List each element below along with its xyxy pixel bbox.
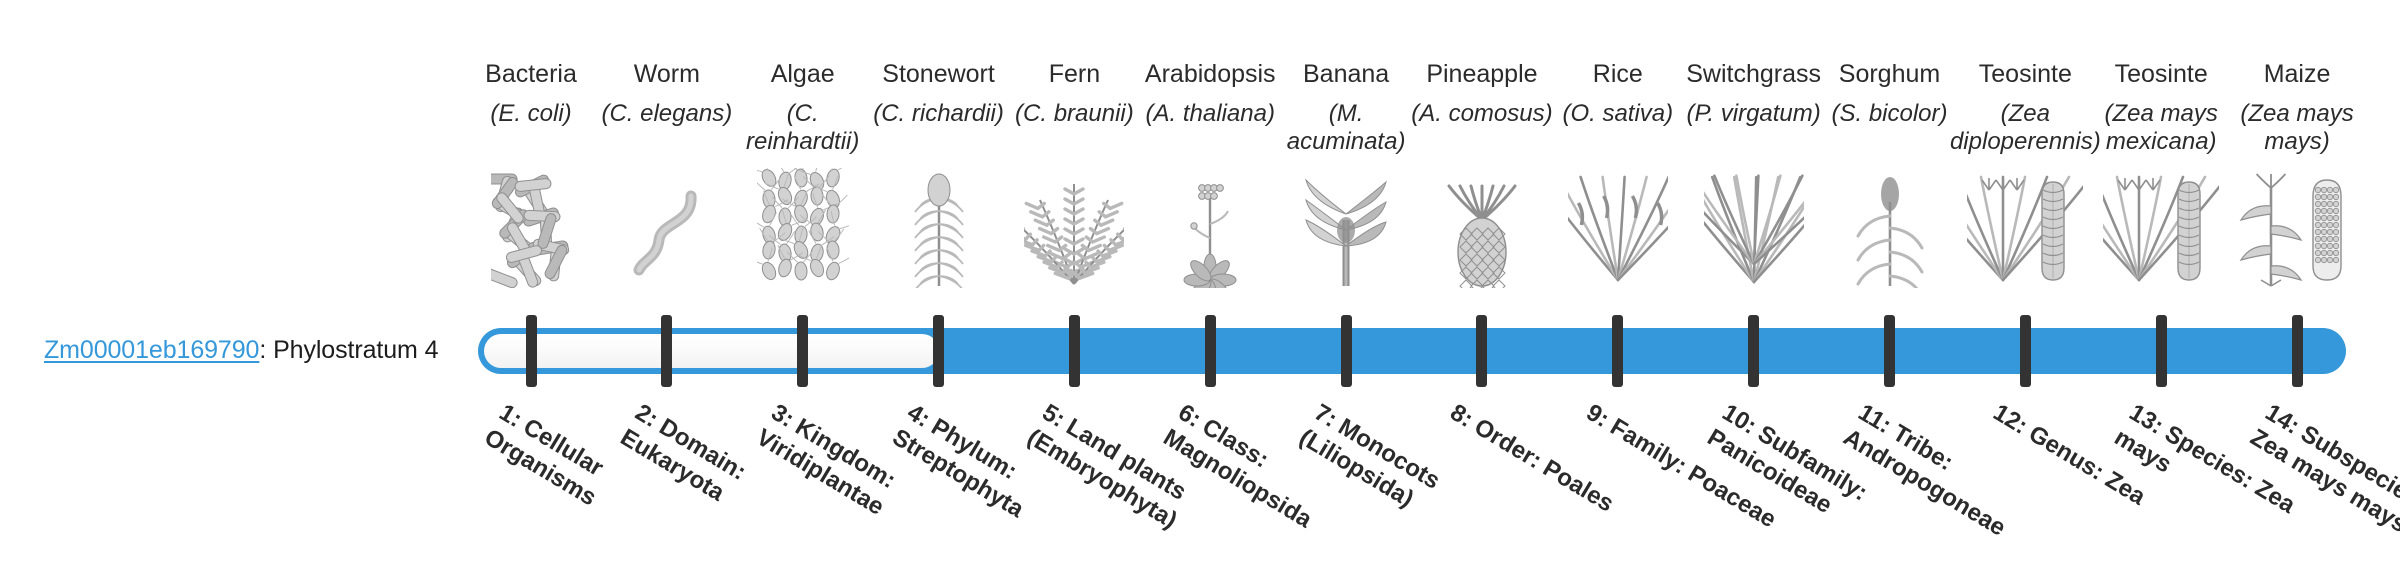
stratum-tick[interactable]: [661, 315, 672, 387]
stratum-tick[interactable]: [933, 315, 944, 387]
stratum-ticks-and-labels: 1: Cellular Organisms2: Domain: Eukaryot…: [0, 0, 2400, 580]
stratum-tick[interactable]: [2020, 315, 2031, 387]
stratum-tick[interactable]: [1612, 315, 1623, 387]
phylostratum-figure: Zm00001eb169790: Phylostratum 4 Bacteria…: [0, 0, 2400, 580]
stratum-tick[interactable]: [1069, 315, 1080, 387]
stratum-number: 12:: [1989, 399, 2033, 440]
stratum-tick[interactable]: [1476, 315, 1487, 387]
stratum-tick[interactable]: [1205, 315, 1216, 387]
stratum-rank-text: Cellular Organisms: [480, 413, 608, 511]
stratum-tick[interactable]: [797, 315, 808, 387]
stratum-tick[interactable]: [1748, 315, 1759, 387]
stratum-tick[interactable]: [1884, 315, 1895, 387]
stratum-tick[interactable]: [2156, 315, 2167, 387]
stratum-tick[interactable]: [526, 315, 537, 387]
stratum-tick[interactable]: [2292, 315, 2303, 387]
stratum-number: 8:: [1446, 399, 1478, 433]
stratum-number: 9:: [1581, 399, 1613, 433]
stratum-tick[interactable]: [1341, 315, 1352, 387]
